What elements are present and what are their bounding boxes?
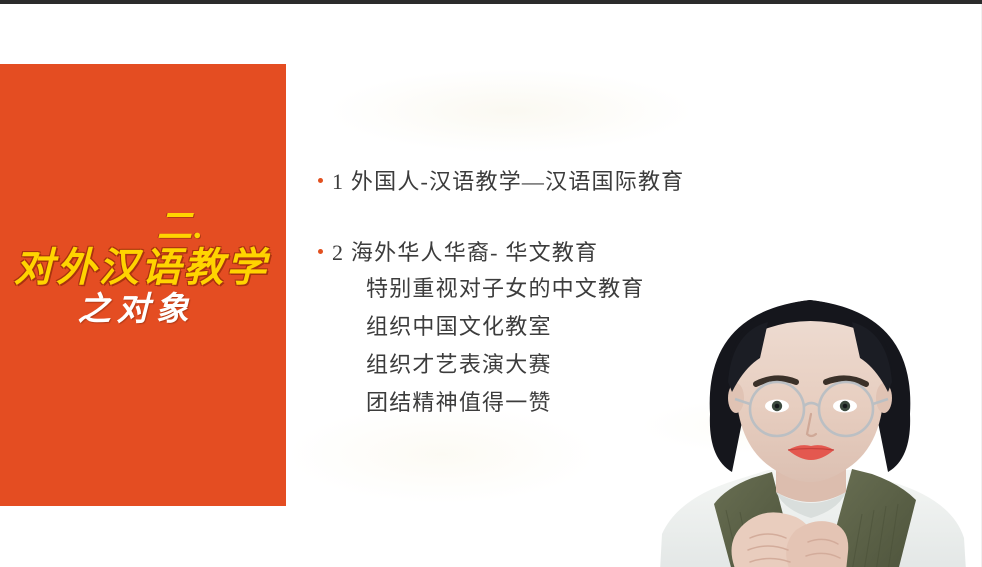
bullet-item-2-text: 2 海外华人华裔- 华文教育: [332, 235, 598, 267]
bullet-item-2: 2 海外华人华裔- 华文教育: [318, 235, 598, 267]
title-number: 二.: [157, 208, 205, 245]
presenter-webcam-overlay: [640, 266, 982, 567]
bullet-dot-icon: [318, 178, 323, 183]
sub-line-2: 组织中国文化教室: [366, 309, 552, 341]
sub-line-3: 组织才艺表演大赛: [366, 347, 552, 379]
title-panel: 二. 对外汉语教学 之对象: [0, 64, 286, 506]
bullet-item-1: 1 外国人-汉语教学—汉语国际教育: [318, 164, 684, 196]
title-main-text: 对外汉语教学: [14, 247, 268, 289]
slide-canvas: 二. 对外汉语教学 之对象 1 外国人-汉语教学—汉语国际教育 2 海外华人华裔…: [0, 4, 982, 567]
bullet-dot-icon: [318, 249, 323, 254]
sub-line-4: 团结精神值得一赞: [366, 385, 552, 417]
bullet-item-1-text: 1 外国人-汉语教学—汉语国际教育: [332, 164, 684, 196]
sub-line-1: 特别重视对子女的中文教育: [366, 271, 645, 303]
title-sub-text: 之对象: [78, 293, 195, 328]
